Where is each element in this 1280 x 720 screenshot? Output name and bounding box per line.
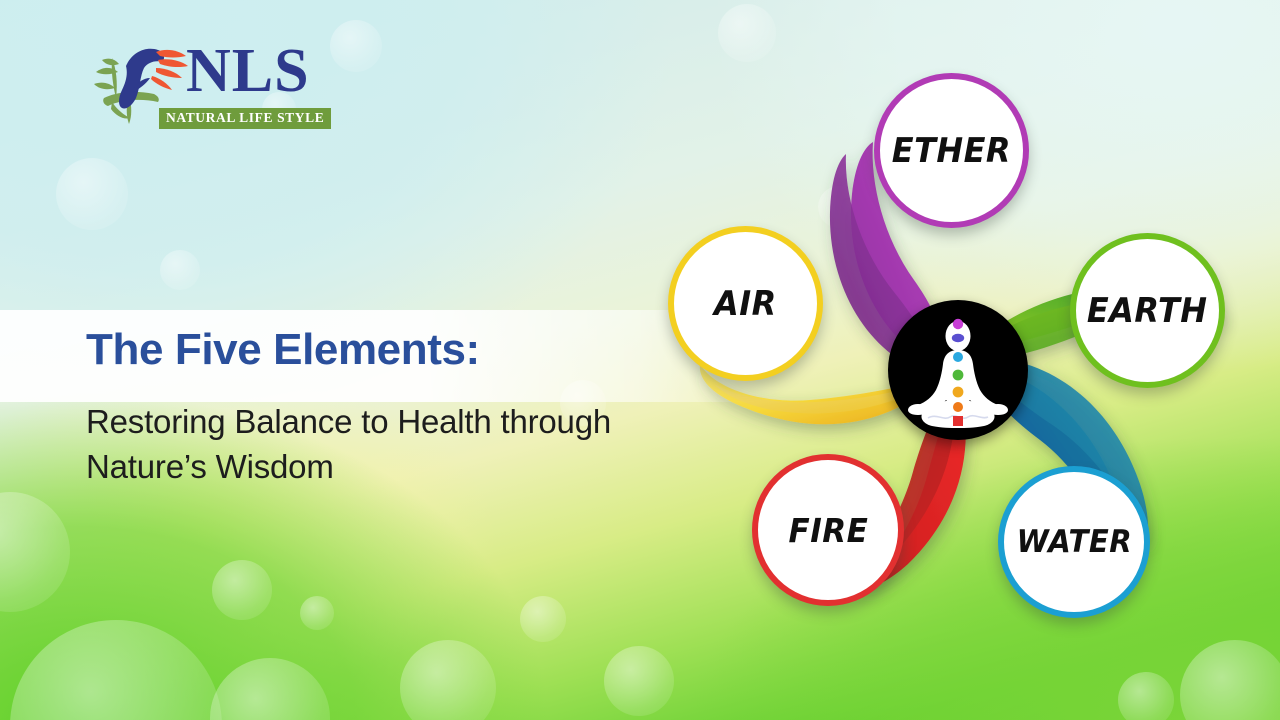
bokeh-circle xyxy=(520,596,566,642)
root-chakra xyxy=(953,416,963,426)
bokeh-circle xyxy=(300,596,334,630)
third-eye-chakra xyxy=(952,334,964,342)
element-circle-air[interactable]: AIR xyxy=(668,226,823,381)
headline-block: The Five Elements: Restoring Balance to … xyxy=(86,326,706,489)
bokeh-circle xyxy=(330,20,382,72)
five-elements-diagram: ETHER EARTH WATER FIRE AIR xyxy=(640,48,1280,688)
bokeh-circle xyxy=(212,560,272,620)
element-label-earth: EARTH xyxy=(1087,291,1208,331)
crown-chakra xyxy=(953,319,963,329)
element-label-air: AIR xyxy=(714,284,777,324)
element-circle-ether[interactable]: ETHER xyxy=(874,73,1029,228)
element-label-water: WATER xyxy=(1016,524,1131,560)
page-title: The Five Elements: xyxy=(86,326,706,374)
sacral-chakra xyxy=(953,402,963,412)
element-label-ether: ETHER xyxy=(892,131,1011,171)
element-circle-water[interactable]: WATER xyxy=(998,466,1150,618)
brand-logo[interactable]: NLS NATURAL LIFE STYLE xyxy=(82,36,314,128)
element-circle-fire[interactable]: FIRE xyxy=(752,454,904,606)
meditating-chakra-figure-icon xyxy=(888,300,1028,440)
throat-chakra xyxy=(953,352,963,362)
brand-name: NLS xyxy=(186,40,310,102)
solar-plexus-chakra xyxy=(953,387,964,398)
bokeh-circle xyxy=(160,250,200,290)
element-label-fire: FIRE xyxy=(788,511,868,550)
page-subtitle: Restoring Balance to Health through Natu… xyxy=(86,400,706,488)
bokeh-circle xyxy=(56,158,128,230)
element-circle-earth[interactable]: EARTH xyxy=(1070,233,1225,388)
heart-chakra xyxy=(953,370,964,381)
brand-tagline: NATURAL LIFE STYLE xyxy=(159,108,331,129)
